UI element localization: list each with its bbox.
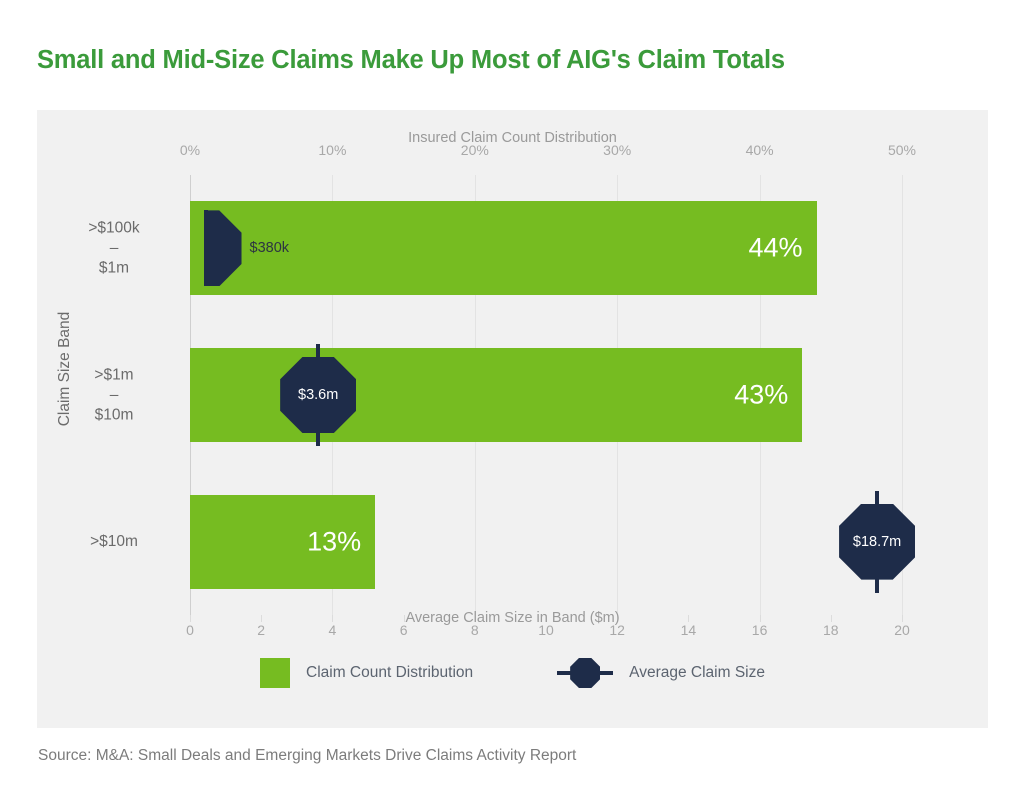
category-label-line: >$100k xyxy=(60,219,168,239)
average-claim-size-marker[interactable]: $18.7m xyxy=(839,504,915,580)
marker-whisker-top xyxy=(875,491,879,506)
marker-value-label: $3.6m xyxy=(298,387,338,403)
chart-row: >$10m13%$18.7m xyxy=(190,495,902,589)
bar-value-label: 13% xyxy=(307,528,361,555)
marker-whisker-bottom xyxy=(316,431,320,446)
marker-whisker-bottom xyxy=(204,284,208,286)
chart-panel: Insured Claim Count Distribution Claim S… xyxy=(37,110,988,728)
bar[interactable]: 13% xyxy=(190,495,375,589)
marker-whisker-top xyxy=(316,344,320,359)
top-axis-tick-label: 20% xyxy=(461,142,489,158)
top-axis-tick-label: 10% xyxy=(318,142,346,158)
bottom-axis-title: Average Claim Size in Band ($m) xyxy=(37,610,988,626)
category-label: >$10m xyxy=(60,532,190,552)
chart-legend: Claim Count Distribution Average Claim S… xyxy=(37,658,988,688)
top-axis-tick-label: 50% xyxy=(888,142,916,158)
legend-item-average-claim-size[interactable]: Average Claim Size xyxy=(557,658,765,688)
category-label: >$100k–$1m xyxy=(60,219,190,278)
plot-inner: 0%10%20%30%40%50%02468101214161820>$100k… xyxy=(190,175,902,615)
legend-item-claim-count[interactable]: Claim Count Distribution xyxy=(260,658,473,688)
category-label-line: $10m xyxy=(60,405,168,425)
navy-octagon-icon xyxy=(557,658,613,688)
octagon-icon xyxy=(204,210,242,286)
page-title: Small and Mid-Size Claims Make Up Most o… xyxy=(37,45,977,76)
average-claim-size-marker[interactable]: $380k xyxy=(204,210,242,286)
category-label-line: >$1m xyxy=(60,365,168,385)
plot-area: 0%10%20%30%40%50%02468101214161820>$100k… xyxy=(190,175,939,615)
top-axis-tick-label: 30% xyxy=(603,142,631,158)
category-label-line: $1m xyxy=(60,258,168,278)
top-axis-tick-label: 40% xyxy=(746,142,774,158)
marker-value-label: $18.7m xyxy=(853,534,901,550)
category-label-line: – xyxy=(60,385,168,405)
top-axis-tick-label: 0% xyxy=(180,142,200,158)
average-claim-size-marker[interactable]: $3.6m xyxy=(280,357,356,433)
legend-label-claim-count: Claim Count Distribution xyxy=(306,664,473,682)
category-label: >$1m–$10m xyxy=(60,365,190,424)
green-square-icon xyxy=(260,658,290,688)
legend-label-average-claim-size: Average Claim Size xyxy=(629,664,765,682)
marker-value-label: $380k xyxy=(250,240,290,256)
marker-whisker-bottom xyxy=(875,578,879,593)
bar-value-label: 44% xyxy=(749,235,803,262)
source-note: Source: M&A: Small Deals and Emerging Ma… xyxy=(38,747,576,765)
category-label-line: >$10m xyxy=(60,532,168,552)
bar-value-label: 43% xyxy=(734,382,788,409)
chart-row: >$100k–$1m44%$380k$380k xyxy=(190,201,902,295)
chart-row: >$1m–$10m43%$3.6m xyxy=(190,348,902,442)
category-label-line: – xyxy=(60,238,168,258)
